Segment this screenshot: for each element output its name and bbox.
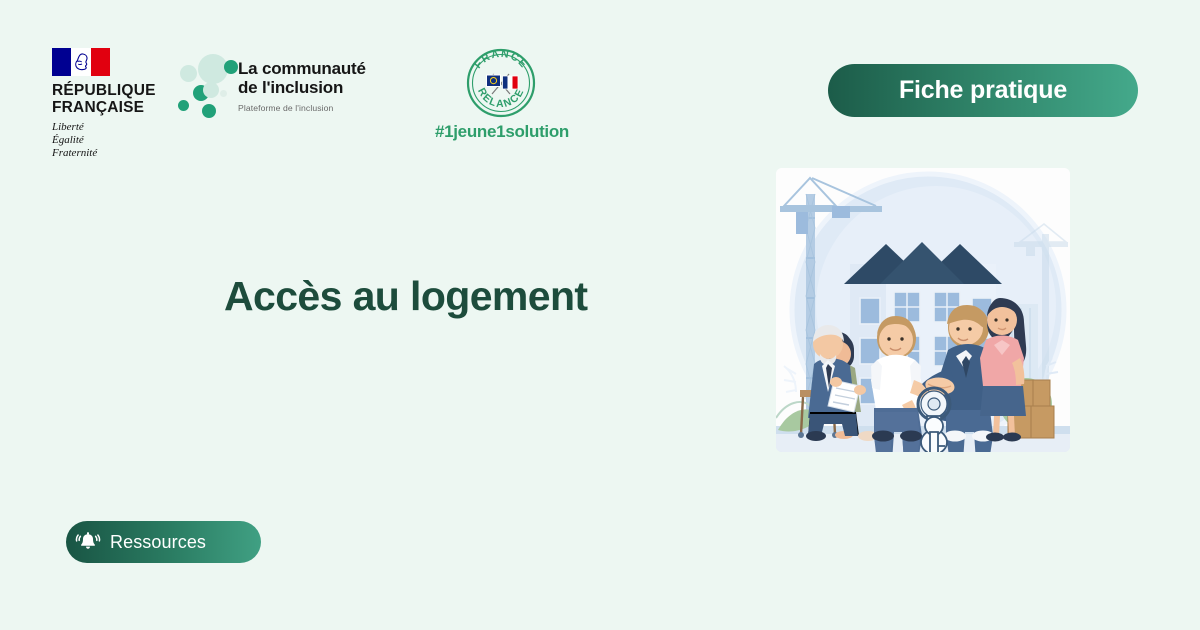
logo-communaute-inclusion: La communauté de l'inclusion Plateforme … bbox=[176, 52, 391, 138]
logo-republique-francaise: RÉPUBLIQUE FRANÇAISE Liberté Égalité Fra… bbox=[52, 48, 182, 161]
page-title: Accès au logement bbox=[224, 272, 764, 320]
inclusion-title-line-2: de l'inclusion bbox=[238, 79, 366, 98]
french-flag-marianne-icon bbox=[52, 48, 110, 76]
motto-liberte: Liberté bbox=[52, 121, 182, 134]
logo-france-relance: FRANCE RELANCE bbox=[428, 46, 576, 142]
republique-line-1: RÉPUBLIQUE bbox=[52, 83, 182, 100]
dot-pale-tiny bbox=[220, 90, 227, 97]
dot-pale-small bbox=[180, 65, 197, 82]
inclusion-dots-icon bbox=[176, 52, 240, 124]
ressources-pill-label: Ressources bbox=[110, 532, 206, 553]
poster-canvas: RÉPUBLIQUE FRANÇAISE Liberté Égalité Fra… bbox=[0, 0, 1200, 630]
illustration-artwork bbox=[776, 168, 1070, 452]
republique-line-2: FRANÇAISE bbox=[52, 100, 182, 117]
fiche-pratique-badge-label: Fiche pratique bbox=[899, 76, 1067, 105]
inclusion-subtitle: Plateforme de l'inclusion bbox=[238, 103, 366, 113]
housing-handshake-illustration bbox=[776, 168, 1070, 452]
dot-teal-3 bbox=[178, 100, 189, 111]
dot-teal-4 bbox=[202, 104, 216, 118]
svg-text:FRANCE: FRANCE bbox=[472, 48, 530, 71]
ressources-pill[interactable]: Ressources bbox=[66, 521, 261, 563]
svg-text:RELANCE: RELANCE bbox=[475, 86, 527, 110]
dot-pale-mid bbox=[203, 82, 219, 98]
motto-egalite: Égalité bbox=[52, 134, 182, 147]
flag-band-blue bbox=[52, 48, 71, 76]
eu-flag-icon bbox=[487, 75, 501, 87]
hashtag-1jeune1solution: #1jeune1solution bbox=[428, 122, 576, 142]
france-flag-icon bbox=[503, 76, 519, 89]
marianne-profile-icon bbox=[72, 52, 90, 72]
inclusion-text-block: La communauté de l'inclusion Plateforme … bbox=[238, 60, 366, 113]
france-relance-stamp-icon: FRANCE RELANCE bbox=[464, 46, 538, 120]
flag-band-red bbox=[91, 48, 110, 76]
dot-teal-1 bbox=[224, 60, 238, 74]
flag-band-white bbox=[71, 48, 90, 76]
inclusion-title-line-1: La communauté bbox=[238, 60, 366, 79]
bell-ringing-icon bbox=[66, 530, 110, 554]
fiche-pratique-badge: Fiche pratique bbox=[828, 64, 1138, 117]
motto-fraternite: Fraternité bbox=[52, 147, 182, 160]
